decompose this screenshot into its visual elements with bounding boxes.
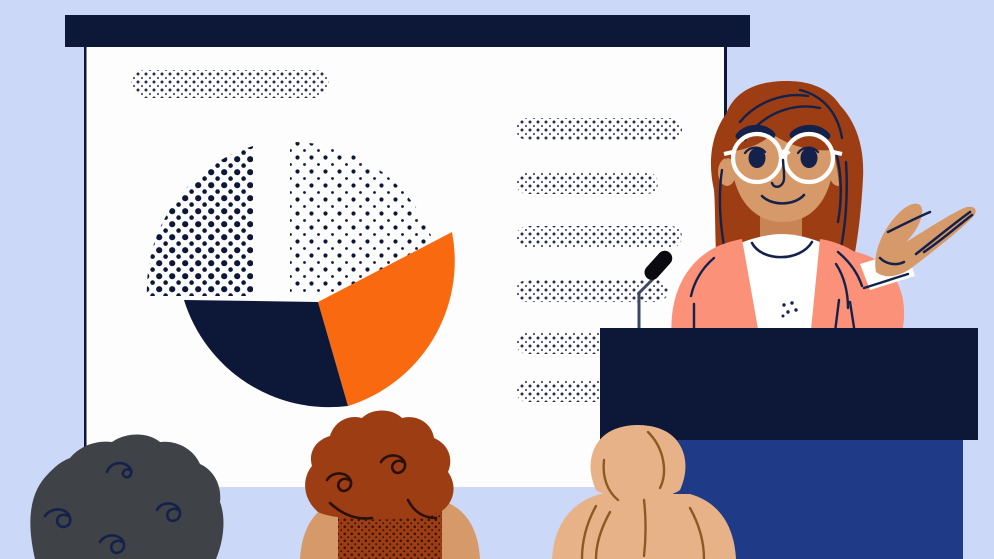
- illustration-canvas: [0, 0, 994, 559]
- eye-right: [801, 148, 818, 168]
- slide-header-bar: [65, 15, 750, 47]
- body-line-3: [516, 226, 682, 248]
- body-line-2: [516, 172, 658, 194]
- screen-left-edge: [84, 47, 87, 487]
- body-line-1: [516, 118, 682, 140]
- slide-title-placeholder: [131, 70, 329, 98]
- presentation-scene: Woman presenting a pie chart slide at a …: [0, 0, 994, 559]
- podium-top: [600, 328, 978, 440]
- body-line-4: [516, 280, 668, 302]
